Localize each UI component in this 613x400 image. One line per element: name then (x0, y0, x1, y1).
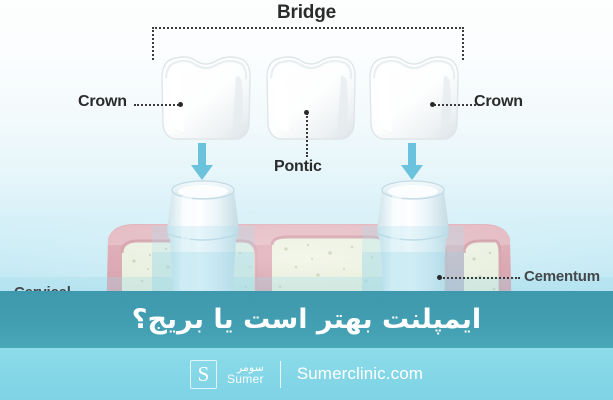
cementum-leader-dot (437, 275, 442, 280)
pontic-leader-dot (304, 110, 309, 115)
crown-left-leader-dot (178, 102, 183, 107)
logo-wordmark: سومر Sumer (227, 362, 264, 385)
footer-branding: S سومر Sumer Sumerclinic.com (0, 348, 613, 400)
headline-banner: ایمپلنت بهتر است یا بریج؟ (0, 291, 613, 348)
pontic-label: Pontic (274, 158, 322, 176)
site-url-text[interactable]: Sumerclinic.com (297, 364, 423, 384)
abutment-right (362, 178, 464, 298)
crown-right-label: Crown (474, 93, 523, 111)
sumer-logo-icon[interactable]: S (190, 360, 217, 389)
crown-left-leader-line (134, 104, 182, 106)
crown-right-leader-dot (430, 102, 435, 107)
bridge-bracket (152, 27, 464, 60)
infographic-stage: Bridge Crown Crown Pontic Cementum Cervi… (0, 0, 613, 400)
logo-divider (280, 361, 281, 388)
cementum-leader-line (440, 277, 520, 279)
arrow-shape (401, 143, 423, 180)
logo-name-en: Sumer (227, 373, 264, 385)
pontic-leader-line (306, 113, 308, 157)
crown-left-label: Crown (78, 93, 127, 111)
crown-tooth-right (358, 52, 470, 146)
arrow-shape (191, 143, 213, 180)
crown-tooth-left (150, 52, 262, 146)
down-arrow-left (189, 143, 215, 181)
cementum-label: Cementum (524, 268, 600, 285)
headline-text: ایمپلنت بهتر است یا بریج؟ (132, 306, 481, 333)
pontic-tooth-center (255, 52, 367, 146)
abutment-left (152, 178, 254, 298)
bridge-label: Bridge (0, 2, 613, 24)
down-arrow-right (399, 143, 425, 181)
